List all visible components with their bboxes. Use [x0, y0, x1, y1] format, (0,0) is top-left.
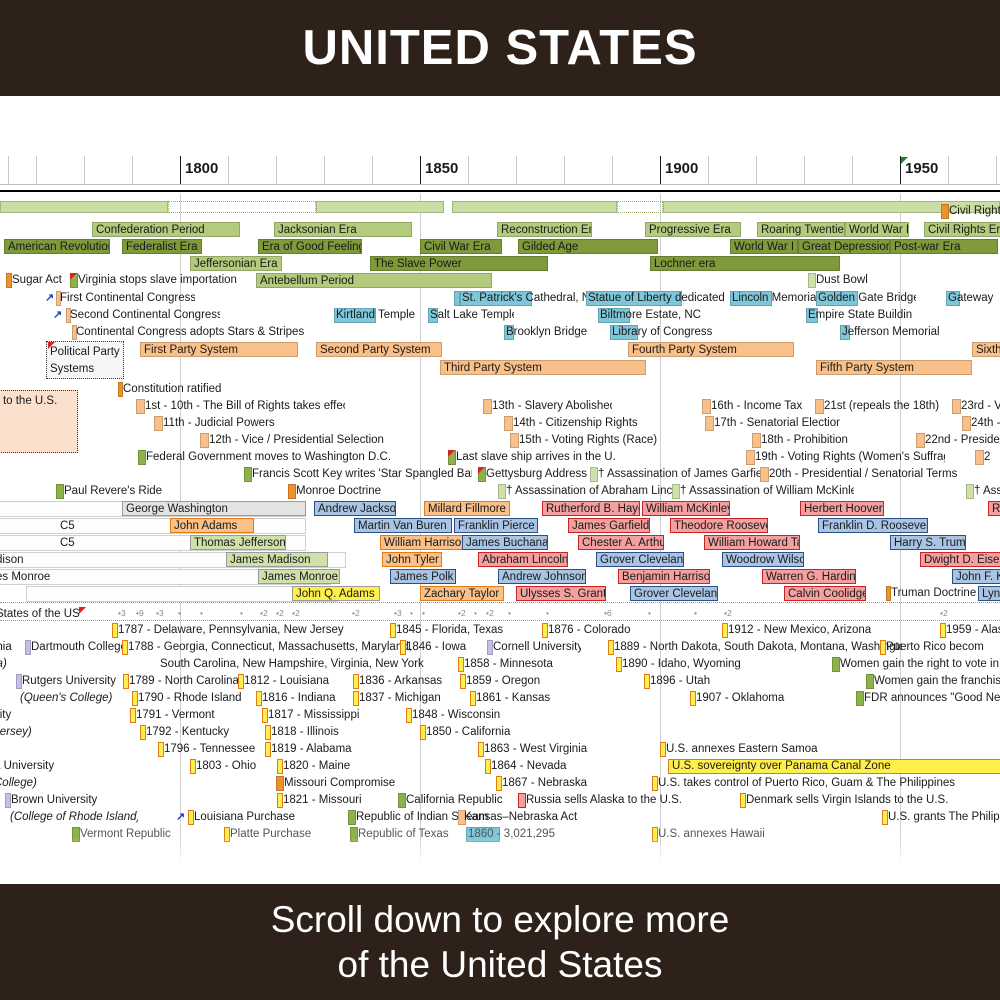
university-rutgers[interactable]: Rutgers University: [22, 674, 126, 689]
era-federalist[interactable]: Federalist Era: [122, 239, 202, 254]
president-john-adams[interactable]: John Adams: [170, 518, 254, 533]
statehood-1907[interactable]: 1907 - Oklahoma: [696, 691, 800, 706]
university-label: (College of Rhode Island): [10, 810, 138, 825]
landmark-library-of-congress[interactable]: Library of Congress: [612, 325, 718, 340]
timeline-canvas[interactable]: 1800 1850 1900 1950: [0, 96, 1000, 884]
territorial-panama-canal-zone[interactable]: U.S. sovereignty over Panama Canal Zone: [672, 759, 932, 774]
president-andrew-johnson[interactable]: Andrew Johnson: [498, 569, 586, 584]
footer-line-1: Scroll down to explore more: [271, 897, 730, 942]
party-first-party-system[interactable]: First Party System: [140, 342, 298, 357]
statehood-1820[interactable]: 1820 - Maine: [283, 759, 367, 774]
president-george-washington[interactable]: George Washington: [122, 501, 306, 516]
ruler-tick: [324, 156, 325, 184]
timeline-ruler[interactable]: 1800 1850 1900 1950: [0, 156, 1000, 184]
event-continental-congress-stars-stripes[interactable]: Continental Congress adopts Stars & Stri…: [76, 325, 306, 340]
statehood-1890[interactable]: 1890 - Idaho, Wyoming: [622, 657, 744, 672]
landmark-empire-state-building[interactable]: Empire State Building: [808, 308, 912, 323]
row-label-political-party-systems: Political Party Systems: [46, 341, 124, 379]
statehood-label-1821: 1821 - Missouri: [283, 793, 362, 808]
landmark-label: Biltmore Estate, NC: [600, 308, 701, 323]
era-civil-rights-era[interactable]: Civil Rights Era: [924, 222, 1000, 237]
university-clip: sity: [0, 708, 28, 723]
amendment-14th[interactable]: 14th - Citizenship Rights: [513, 416, 645, 431]
amendment-15th[interactable]: 15th - Voting Rights (Race): [519, 433, 661, 448]
event-label: Sugar Act: [12, 273, 62, 288]
university-cornell[interactable]: Cornell University: [493, 640, 581, 655]
era-world-war-ii[interactable]: World War II: [845, 222, 909, 237]
note-flag-icon: [448, 450, 455, 457]
ruler-tick: [852, 156, 853, 184]
university-label: Cornell University: [493, 640, 581, 655]
amendment-23rd[interactable]: 23rd - V: [961, 399, 1000, 414]
landmark-lincoln-memorial[interactable]: Lincoln Memorial: [732, 291, 824, 306]
header-banner: UNITED STATES: [0, 0, 1000, 96]
president-theodore-roosevelt[interactable]: Theodore Roosevelt: [670, 518, 768, 533]
amendment-22nd[interactable]: 22nd - Presidentia: [925, 433, 1000, 448]
university-label: Brown University: [11, 793, 97, 808]
party-sixth-party-system[interactable]: Sixth: [972, 342, 1000, 357]
era-lochner[interactable]: Lochner era: [650, 256, 840, 271]
statehood-label: 1792 - Kentucky: [146, 725, 229, 740]
era-antebellum[interactable]: Antebellum Period: [256, 273, 492, 288]
event-gettysburg-address[interactable]: Gettysburg Address: [486, 467, 596, 482]
event-marker[interactable]: [138, 450, 146, 465]
amendment-marker[interactable]: [136, 399, 145, 414]
statehood-label: 1907 - Oklahoma: [696, 691, 784, 706]
statehood-label: 1817 - Mississippi: [268, 708, 359, 723]
territorial-marker[interactable]: [398, 793, 406, 808]
statehood-label: 1959 - Alask: [946, 623, 1000, 638]
event-marker[interactable]: [672, 484, 680, 499]
event-second-continental-congress[interactable]: Second Continental Congress: [70, 308, 220, 323]
president-rutherford-b-hayes[interactable]: Rutherford B. Hayes: [542, 501, 640, 516]
president-ulysses-s-grant[interactable]: Ulysses S. Grant: [516, 586, 606, 601]
president-dwight-d-eisenhower[interactable]: Dwight D. Eisenho: [920, 552, 1000, 567]
era-american-revolution[interactable]: American Revolution: [4, 239, 110, 254]
university-clip: College): [0, 776, 50, 791]
statehood-1789[interactable]: 1789 - North Carolina: [129, 674, 239, 689]
event-assassination-garfield[interactable]: † Assassination of James Garfield: [598, 467, 760, 482]
ruler-tick: [36, 156, 37, 184]
event-marker[interactable]: [56, 484, 64, 499]
landmark-salt-lake-temple[interactable]: Salt Lake Temple: [430, 308, 514, 323]
president-james-monroe[interactable]: James Monroe: [258, 569, 340, 584]
amendment-16th[interactable]: 16th - Income Tax: [711, 399, 805, 414]
statehood-1836[interactable]: 1836 - Arkansas: [359, 674, 455, 689]
statehood-label: 1912 - New Mexico, Arizona: [728, 623, 871, 638]
landmark-label: Brooklyn Bridge: [506, 325, 587, 340]
state-count-marker: •: [648, 608, 651, 618]
social-event-label: Women gain the franchise in: [874, 674, 1000, 689]
era-civil-war[interactable]: Civil War Era: [420, 239, 502, 254]
era-great-depression[interactable]: Great Depression: [798, 239, 890, 254]
university-clip: a University: [0, 759, 64, 774]
statehood-label: 1818 - Illinois: [271, 725, 339, 740]
ruler-tick: [612, 156, 613, 184]
amendment-label: 21st (repeals the 18th): [824, 399, 939, 414]
event-star-spangled-banner[interactable]: Francis Scott Key writes 'Star Spangled …: [252, 467, 472, 482]
statehood-label: 1867 - Nebraska: [502, 776, 587, 791]
statehood-1817[interactable]: 1817 - Mississippi: [268, 708, 368, 723]
amendment-label: 20th - Presidential / Senatorial Terms: [769, 467, 957, 482]
territorial-us-grants-philippines[interactable]: U.S. grants The Philippine: [888, 810, 1000, 825]
territorial-label: U.S. annexes Eastern Samoa: [666, 742, 818, 757]
ruler-label-1800: 1800: [181, 160, 218, 177]
landmark-label: Statue of Liberty dedicated: [588, 291, 725, 306]
ruler-tick: [756, 156, 757, 184]
amendment-marker[interactable]: [746, 450, 755, 465]
territorial-kansas-nebraska-act[interactable]: Kansas–Nebraska Act: [464, 810, 604, 825]
amendment-marker[interactable]: [705, 416, 714, 431]
state-count-marker: •: [422, 608, 425, 618]
amendment-25th[interactable]: 2: [984, 450, 1000, 465]
amendment-marker[interactable]: [510, 433, 519, 448]
statehood-1959[interactable]: 1959 - Alask: [946, 623, 1000, 638]
university-brown[interactable]: Brown University: [11, 793, 115, 808]
state-count-marker: •2: [724, 608, 732, 618]
president-woodrow-wilson[interactable]: Woodrow Wilson: [722, 552, 804, 567]
president-lane: [0, 518, 306, 534]
state-count-marker: •3: [394, 608, 402, 618]
state-count-marker: •: [240, 608, 243, 618]
president-grover-cleveland-2[interactable]: Grover Cleveland: [630, 586, 718, 601]
ruler-tick: [8, 156, 9, 184]
amendment-marker[interactable]: [760, 467, 769, 482]
statehood-1850[interactable]: 1850 - California: [426, 725, 526, 740]
statehood-1812[interactable]: 1812 - Louisiana: [244, 674, 340, 689]
statehood-label: 1861 - Kansas: [476, 691, 550, 706]
era-slave-power[interactable]: The Slave Power: [370, 256, 548, 271]
external-link-icon[interactable]: ↗: [45, 291, 54, 306]
statehood-1837[interactable]: 1837 - Michigan: [359, 691, 455, 706]
state-count-marker: •3: [118, 608, 126, 618]
statehood-1867[interactable]: 1867 - Nebraska: [502, 776, 608, 791]
event-label: Gettysburg Address: [486, 467, 587, 482]
territorial-eastern-samoa[interactable]: U.S. annexes Eastern Samoa: [666, 742, 846, 757]
president-john-tyler[interactable]: John Tyler: [382, 552, 442, 567]
external-link-icon[interactable]: ↗: [176, 810, 185, 825]
amendment-label: 17th - Senatorial Elections: [714, 416, 840, 431]
event-label: Virginia stops slave importation: [78, 273, 237, 288]
territorial-label: Louisiana Purchase: [194, 810, 295, 825]
statehood-1816[interactable]: 1816 - Indiana: [262, 691, 354, 706]
president-martin-van-buren[interactable]: Martin Van Buren: [354, 518, 452, 533]
amendment-24th[interactable]: 24th -: [971, 416, 1000, 431]
amendment-label: 11th - Judicial Powers: [163, 416, 275, 431]
era-confederation-period[interactable]: Confederation Period: [92, 222, 240, 237]
era-reconstruction[interactable]: Reconstruction Era: [497, 222, 592, 237]
era-roaring-twenties[interactable]: Roaring Twenties: [757, 222, 845, 237]
event-marker[interactable]: [244, 467, 252, 482]
amendment-marker[interactable]: [815, 399, 824, 414]
statehood-1818[interactable]: 1818 - Illinois: [271, 725, 351, 740]
amendment-marker[interactable]: [962, 416, 971, 431]
era-band-segment[interactable]: [316, 201, 444, 213]
landmark-label: Empire State Building: [808, 308, 912, 323]
statehood-label: 1863 - West Virginia: [484, 742, 587, 757]
university-clip-jersey: Jersey): [0, 725, 42, 740]
president-thomas-jefferson[interactable]: Thomas Jefferson: [190, 535, 286, 550]
amendment-bill-of-rights[interactable]: 1st - 10th - The Bill of Rights takes ef…: [145, 399, 345, 414]
statehood-label: 1789 - North Carolina: [129, 674, 239, 689]
state-count-marker: •: [508, 608, 511, 618]
event-label: † Ass: [974, 484, 1000, 499]
university-label: College): [0, 776, 37, 791]
statehood-label: 1788 - Georgia, Connecticut, Massachuset…: [128, 640, 412, 655]
president-grover-cleveland-1[interactable]: Grover Cleveland: [596, 552, 684, 567]
amendment-marker[interactable]: [200, 433, 209, 448]
event-label: Second Continental Congress: [70, 308, 220, 323]
state-count-marker: •: [410, 608, 413, 618]
event-sugar-act[interactable]: Sugar Act: [12, 273, 74, 288]
civil-rights-marker[interactable]: [941, 204, 949, 219]
party-third-party-system[interactable]: Third Party System: [440, 360, 646, 375]
president-william-howard-taft[interactable]: William Howard Taft: [704, 535, 800, 550]
president-andrew-jackson[interactable]: Andrew Jackson: [314, 501, 396, 516]
note-flag-icon: [478, 467, 485, 474]
section-divider-top: [0, 602, 1000, 603]
statehood-label: 1876 - Colorado: [548, 623, 630, 638]
landmark-kirtland-temple[interactable]: Kirtland Temple: [336, 308, 418, 323]
landmark-st-patricks-cathedral[interactable]: St. Patrick's Cathedral, NY: [462, 291, 592, 306]
state-count-marker: •2: [260, 608, 268, 618]
state-count-marker: •: [200, 608, 203, 618]
amendment-label: 16th - Income Tax: [711, 399, 802, 414]
statehood-1912[interactable]: 1912 - New Mexico, Arizona: [728, 623, 898, 638]
state-count-marker: •2: [292, 608, 300, 618]
statehood-label: 1845 - Florida, Texas: [396, 623, 503, 638]
statehood-1863[interactable]: 1863 - West Virginia: [484, 742, 602, 757]
territorial-marker[interactable]: [276, 776, 284, 791]
landmark-label: St. Patrick's Cathedral, NY: [462, 291, 592, 306]
statehood-1896[interactable]: 1896 - Utah: [650, 674, 734, 689]
president-james-buchanan[interactable]: James Buchanan: [462, 535, 548, 550]
territorial-louisiana-purchase[interactable]: Louisiana Purchase: [194, 810, 304, 825]
footer-banner: Scroll down to explore more of the Unite…: [0, 884, 1000, 1000]
president-john-f-kennedy[interactable]: John F. K: [952, 569, 1000, 584]
statehood-1788[interactable]: 1788 - Georgia, Connecticut, Massachuset…: [128, 640, 428, 655]
president-lyndon-b-johnson[interactable]: Lyndo: [978, 586, 1000, 601]
party-second-party-system[interactable]: Second Party System: [316, 342, 442, 357]
landmark-biltmore-estate[interactable]: Biltmore Estate, NC: [600, 308, 704, 323]
event-assassination-other[interactable]: † Ass: [974, 484, 1000, 499]
statehood-1792[interactable]: 1792 - Kentucky: [146, 725, 238, 740]
party-fifth-party-system[interactable]: Fifth Party System: [816, 360, 972, 375]
statehood-1858[interactable]: 1858 - Minnesota: [464, 657, 570, 672]
president-calvin-coolidge[interactable]: Calvin Coolidge: [784, 586, 866, 601]
era-world-war-i[interactable]: World War I: [730, 239, 798, 254]
amendment-marker[interactable]: [483, 399, 492, 414]
amendment-marker[interactable]: [975, 450, 984, 465]
statehood-1803[interactable]: 1803 - Ohio: [196, 759, 276, 774]
landmark-golden-gate-bridge[interactable]: Golden Gate Bridge: [818, 291, 916, 306]
amendment-marker[interactable]: [702, 399, 711, 414]
event-label: † Assassination of William McKinley: [680, 484, 854, 499]
era-band-segment[interactable]: [0, 201, 168, 213]
statehood-label: 1850 - California: [426, 725, 510, 740]
territorial-marker[interactable]: [348, 810, 356, 825]
statehood-label: 1787 - Delaware, Pennsylvania, New Jerse…: [118, 623, 344, 638]
event-assassination-lincoln[interactable]: † Assassination of Abraham Lincoln: [506, 484, 672, 499]
statehood-1845[interactable]: 1845 - Florida, Texas: [396, 623, 508, 638]
amendment-17th[interactable]: 17th - Senatorial Elections: [714, 416, 840, 431]
amendment-19th[interactable]: 19th - Voting Rights (Women's Suffrage): [755, 450, 945, 465]
amendment-marker[interactable]: [952, 399, 961, 414]
era-gilded-age[interactable]: Gilded Age: [518, 239, 658, 254]
ruler-tick: [372, 156, 373, 184]
event-paul-reveres-ride[interactable]: Paul Revere's Ride: [64, 484, 174, 499]
amendment-label: 15th - Voting Rights (Race): [519, 433, 657, 448]
amendment-21st[interactable]: 21st (repeals the 18th): [824, 399, 944, 414]
territorial-label: Denmark sells Virgin Islands to the U.S.: [746, 793, 948, 808]
event-federal-government-moves[interactable]: Federal Government moves to Washington D…: [146, 450, 406, 465]
statehood-label: 1864 - Nevada: [491, 759, 566, 774]
amendment-label: Constitution ratified: [123, 382, 221, 397]
university-label: Rutgers University: [22, 674, 116, 689]
event-dust-bowl[interactable]: Dust Bowl: [816, 273, 886, 288]
landmark-gateway[interactable]: Gateway: [948, 291, 1000, 306]
statehood-1859[interactable]: 1859 - Oregon: [466, 674, 562, 689]
statehood-label: 1803 - Ohio: [196, 759, 256, 774]
era-good-feelings[interactable]: Era of Good Feelings: [258, 239, 362, 254]
event-label: First Continental Congress: [60, 291, 195, 306]
territorial-label: California Republic: [406, 793, 503, 808]
amendment-marker[interactable]: [752, 433, 761, 448]
ruler-tick: [564, 156, 565, 184]
lane-label-c5-a: C5: [60, 518, 75, 534]
president-r[interactable]: R: [988, 501, 1000, 516]
social-women-vote-cuba[interactable]: Women gain the right to vote in Cuba: [840, 657, 1000, 672]
statehood-label: 1812 - Louisiana: [244, 674, 329, 689]
statehood-1821[interactable]: 1860 - 3,021,2951821 - Missouri: [283, 793, 375, 808]
event-marker[interactable]: [288, 484, 296, 499]
event-truman-doctrine[interactable]: Truman Doctrine: [891, 586, 979, 601]
era-jeffersonian[interactable]: Jeffersonian Era: [190, 256, 282, 271]
president-warren-g-harding[interactable]: Warren G. Harding: [762, 569, 856, 584]
ruler-baseline-thick: [0, 190, 1000, 192]
president-chester-a-arthur[interactable]: Chester A. Arthur: [578, 535, 664, 550]
amendment-constitution-ratified[interactable]: Constitution ratified: [123, 382, 243, 397]
bottom-fade: [0, 838, 1000, 884]
landmark-brooklyn-bridge[interactable]: Brooklyn Bridge: [506, 325, 596, 340]
statehood-1861[interactable]: 1861 - Kansas: [476, 691, 570, 706]
territorial-label: Missouri Compromise: [284, 776, 395, 791]
amendment-12th[interactable]: 12th - Vice / Presidential Selection: [209, 433, 399, 448]
era-post-war[interactable]: Post-war Era: [890, 239, 998, 254]
note-flag-icon: [48, 342, 55, 349]
event-marker[interactable]: [498, 484, 506, 499]
statehood-label: 1820 - Maine: [283, 759, 350, 774]
president-herbert-hoover[interactable]: Herbert Hoover: [800, 501, 884, 516]
social-event-label: Women gain the right to vote in Cuba: [840, 657, 1000, 672]
lane-label-c5-b: C5: [60, 535, 75, 551]
territorial-marker[interactable]: [518, 793, 526, 808]
statehood-1791[interactable]: 1791 - Vermont: [136, 708, 222, 723]
era-band-segment[interactable]: [452, 201, 617, 213]
territorial-missouri-compromise[interactable]: Missouri Compromise: [284, 776, 424, 791]
amendment-marker[interactable]: [916, 433, 925, 448]
social-women-franchise[interactable]: Women gain the franchise in: [874, 674, 1000, 689]
university-dartmouth-college[interactable]: Dartmouth College: [31, 640, 131, 655]
amendment-13th[interactable]: 13th - Slavery Abolished: [492, 399, 612, 414]
statehood-1790[interactable]: 1790 - Rhode Island: [138, 691, 242, 706]
event-marker[interactable]: [966, 484, 974, 499]
president-james-garfield[interactable]: James Garfield: [568, 518, 650, 533]
page-title: UNITED STATES: [302, 24, 697, 73]
event-label: † Assassination of James Garfield: [598, 467, 760, 482]
amendment-11th[interactable]: 11th - Judicial Powers: [163, 416, 289, 431]
president-william-mckinley[interactable]: William McKinley: [642, 501, 730, 516]
social-event-marker[interactable]: [832, 657, 840, 672]
era-jacksonian[interactable]: Jacksonian Era: [274, 222, 412, 237]
party-fourth-party-system[interactable]: Fourth Party System: [628, 342, 794, 357]
statehood-1819[interactable]: 1819 - Alabama: [271, 742, 367, 757]
president-james-polk[interactable]: James Polk: [390, 569, 456, 584]
event-assassination-mckinley[interactable]: † Assassination of William McKinley: [680, 484, 854, 499]
territorial-puerto-rico-guam-philippines[interactable]: U.S. takes control of Puerto Rico, Guam …: [658, 776, 958, 791]
statehood-1864[interactable]: 1864 - Nevada: [491, 759, 591, 774]
ruler-tick: [276, 156, 277, 184]
social-event-marker[interactable]: [856, 691, 864, 706]
president-millard-fillmore[interactable]: Millard Fillmore: [424, 501, 510, 516]
statehood-1848[interactable]: 1848 - Wisconsin: [412, 708, 512, 723]
president-james-madison[interactable]: James Madison: [226, 552, 328, 567]
ruler-tick: [804, 156, 805, 184]
president-franklin-d-roosevelt[interactable]: Franklin D. Roosevelt: [818, 518, 928, 533]
statehood-1796[interactable]: 1796 - Tennessee: [164, 742, 270, 757]
event-first-continental-congress[interactable]: First Continental Congress: [60, 291, 195, 306]
event-monroe-doctrine[interactable]: Monroe Doctrine: [296, 484, 406, 499]
president-franklin-pierce[interactable]: Franklin Pierce: [454, 518, 538, 533]
amendment-20th[interactable]: 20th - Presidential / Senatorial Terms: [769, 467, 999, 482]
era-progressive[interactable]: Progressive Era: [645, 222, 741, 237]
amendment-label: 23rd - V: [961, 399, 1000, 414]
statehood-1787[interactable]: 1787 - Delaware, Pennsylvania, New Jerse…: [118, 623, 358, 638]
president-benjamin-harrison[interactable]: Benjamin Harrison: [618, 569, 710, 584]
event-virginia-stops-slave-importation[interactable]: Virginia stops slave importation: [78, 273, 253, 288]
president-zachary-taylor[interactable]: Zachary Taylor: [420, 586, 504, 601]
event-label: Paul Revere's Ride: [64, 484, 162, 499]
amendment-18th[interactable]: 18th - Prohibition: [761, 433, 865, 448]
territorial-denmark-virgin-islands[interactable]: Denmark sells Virgin Islands to the U.S.: [746, 793, 958, 808]
amendment-marker[interactable]: [154, 416, 163, 431]
social-fdr-good-neighbor[interactable]: FDR announces "Good Neighbor Policy: [864, 691, 1000, 706]
event-last-slave-ship[interactable]: Last slave ship arrives in the U.S.: [456, 450, 616, 465]
territorial-california-republic[interactable]: California Republic: [406, 793, 518, 808]
president-william-harrison[interactable]: William Harrison: [380, 535, 464, 550]
amendment-marker[interactable]: [504, 416, 513, 431]
social-event-marker[interactable]: [866, 674, 874, 689]
external-link-icon[interactable]: ↗: [53, 308, 62, 323]
ruler-tick: [228, 156, 229, 184]
dust-bowl-marker[interactable]: [808, 273, 816, 288]
era-civil-rights-b-label[interactable]: Civil Rights B: [949, 204, 1000, 219]
statehood-1889[interactable]: 1889 - North Dakota, South Dakota, Monta…: [614, 640, 902, 655]
landmark-jefferson-memorial[interactable]: Jefferson Memorial: [842, 325, 942, 340]
territorial-russia-sells-alaska[interactable]: Russia sells Alaska to the U.S.: [526, 793, 698, 808]
president-abraham-lincoln[interactable]: Abraham Lincoln: [478, 552, 568, 567]
president-harry-s-truman[interactable]: Harry S. Truman: [890, 535, 966, 550]
territorial-puerto-rico[interactable]: Puerto Rico becom: [886, 640, 1000, 655]
statehood-label: 1836 - Arkansas: [359, 674, 442, 689]
president-john-q-adams[interactable]: John Q. Adams: [292, 586, 380, 601]
event-marker[interactable]: [590, 467, 598, 482]
university-college-rhode-island: (College of Rhode Island): [10, 810, 138, 825]
statehood-1876[interactable]: 1876 - Colorado: [548, 623, 652, 638]
statehood-1846[interactable]: 1846 - Iowa: [406, 640, 484, 655]
state-count-marker: •2: [352, 608, 360, 618]
landmark-statue-of-liberty[interactable]: Statue of Liberty dedicated: [588, 291, 728, 306]
